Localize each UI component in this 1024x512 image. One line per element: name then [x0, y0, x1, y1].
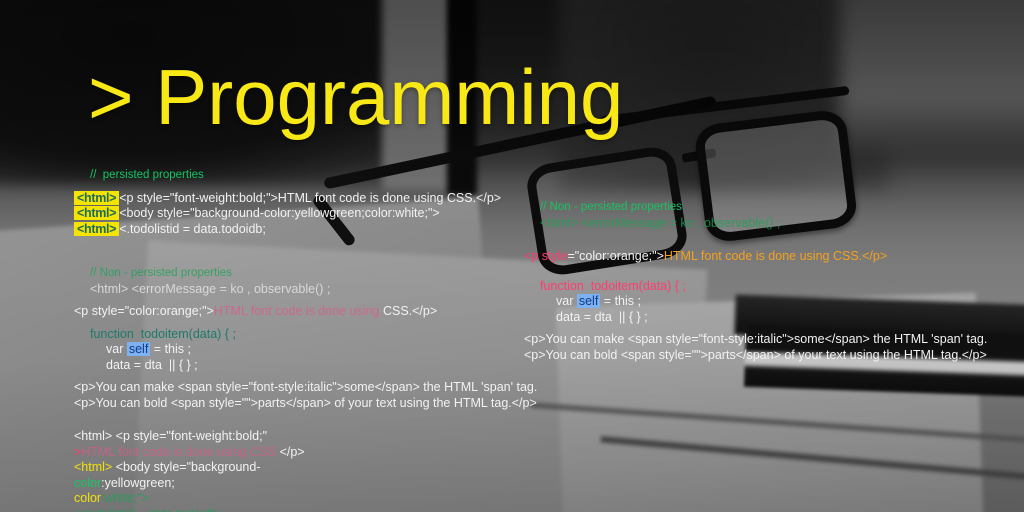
- code-line: <html><.todolistid = data.todoidb;: [74, 222, 537, 238]
- code-line: <.todolistid = data.todoidb;: [74, 507, 537, 512]
- spacer: [74, 237, 537, 248]
- code-line: <p style="color:orange;">HTML font code …: [524, 249, 987, 265]
- spacer: [524, 265, 987, 272]
- spacer: [524, 242, 987, 249]
- spacer: [74, 422, 537, 429]
- html-tag-token: <html>: [74, 206, 119, 220]
- spacer: [74, 259, 537, 266]
- code-variable-self: self: [577, 294, 600, 308]
- spacer: [74, 373, 537, 380]
- code-text: <body style="background-: [112, 460, 260, 474]
- spacer: [74, 411, 537, 422]
- code-line: <p>You can make <span style="font-style:…: [524, 332, 987, 348]
- spacer: [74, 248, 537, 259]
- code-text: <p style="color:orange;">: [74, 304, 214, 318]
- code-text: = this ;: [154, 342, 191, 356]
- code-text: <p style="font-weight:bold;">HTML font c…: [119, 191, 501, 205]
- html-tag-token: <html>: [74, 222, 119, 236]
- code-line: data = dta || { } ;: [524, 310, 987, 326]
- code-line: <p>You can make <span style="font-style:…: [74, 380, 537, 396]
- spacer: [524, 231, 987, 242]
- code-keyword: var: [106, 342, 123, 356]
- code-text: :white;">: [101, 491, 149, 505]
- code-block-left: // persisted properties <html><p style="…: [74, 168, 537, 512]
- code-function: function todoitem(data) { ;: [90, 327, 236, 341]
- code-text: <.todolistid = data.todoidb;: [119, 222, 266, 236]
- code-text: </p>: [276, 445, 305, 459]
- code-line: var self = this ;: [524, 294, 987, 310]
- code-line: <p>You can bold <span style="">parts</sp…: [74, 396, 537, 412]
- spacer: [74, 184, 537, 191]
- code-text: CSS.</p>: [379, 304, 437, 318]
- code-line: data = dta || { } ;: [74, 358, 537, 374]
- spacer: [74, 320, 537, 327]
- code-block-right: // Non - persisted properties <html> <er…: [524, 200, 987, 363]
- code-line: <html> <errorMessage = ko , observable()…: [524, 216, 987, 232]
- html-tag-token: <html>: [74, 460, 112, 474]
- code-property: color: [74, 491, 101, 505]
- code-line: var self = this ;: [74, 342, 537, 358]
- code-keyword: var: [556, 294, 573, 308]
- spacer: [524, 272, 987, 279]
- code-line: <html> <body style="background-: [74, 460, 537, 476]
- code-line: <html> <p style="font-weight:bold;": [74, 429, 537, 445]
- code-line: function todoitem(data) { ;: [74, 327, 537, 343]
- spacer: [74, 297, 537, 304]
- code-text: = this ;: [604, 294, 641, 308]
- code-function: function todoitem(data) { ;: [524, 279, 987, 295]
- code-string: HTML font code is done using CSS: [81, 445, 276, 459]
- spacer: [524, 325, 987, 332]
- code-variable-self: self: [127, 342, 150, 356]
- code-line: color:white;">: [74, 491, 537, 507]
- comment-non-persisted-properties: // Non - persisted properties: [524, 200, 987, 216]
- comment-persisted-properties: // persisted properties: [74, 168, 537, 184]
- code-string: HTML font code is done using: [214, 304, 380, 318]
- slide-canvas: > Programming // persisted properties <h…: [0, 0, 1024, 512]
- page-title: > Programming: [88, 58, 623, 136]
- code-line: <html><p style="font-weight:bold;">HTML …: [74, 191, 537, 207]
- code-line: <html><body style="background-color:yell…: [74, 206, 537, 222]
- html-tag-token: <html>: [74, 191, 119, 205]
- code-line: <p style="color:orange;">HTML font code …: [74, 304, 537, 320]
- code-text: :yellowgreen;: [101, 476, 175, 490]
- code-line: <html> <errorMessage = ko , observable()…: [74, 282, 537, 298]
- comment-non-persisted-properties: // Non - persisted properties: [74, 266, 537, 282]
- code-attribute: ="color:orange;">: [567, 249, 663, 263]
- code-text: <body style="background-color:yellowgree…: [119, 206, 440, 220]
- code-tag: <p style: [524, 249, 567, 263]
- code-string: HTML font code is done using CSS.</p>: [664, 249, 887, 263]
- code-line: <p>You can bold <span style="">parts</sp…: [524, 348, 987, 364]
- slide-content: > Programming // persisted properties <h…: [0, 0, 1024, 512]
- code-line: >HTML font code is done using CSS </p>: [74, 445, 537, 461]
- code-line: color:yellowgreen;: [74, 476, 537, 492]
- code-property: color: [74, 476, 101, 490]
